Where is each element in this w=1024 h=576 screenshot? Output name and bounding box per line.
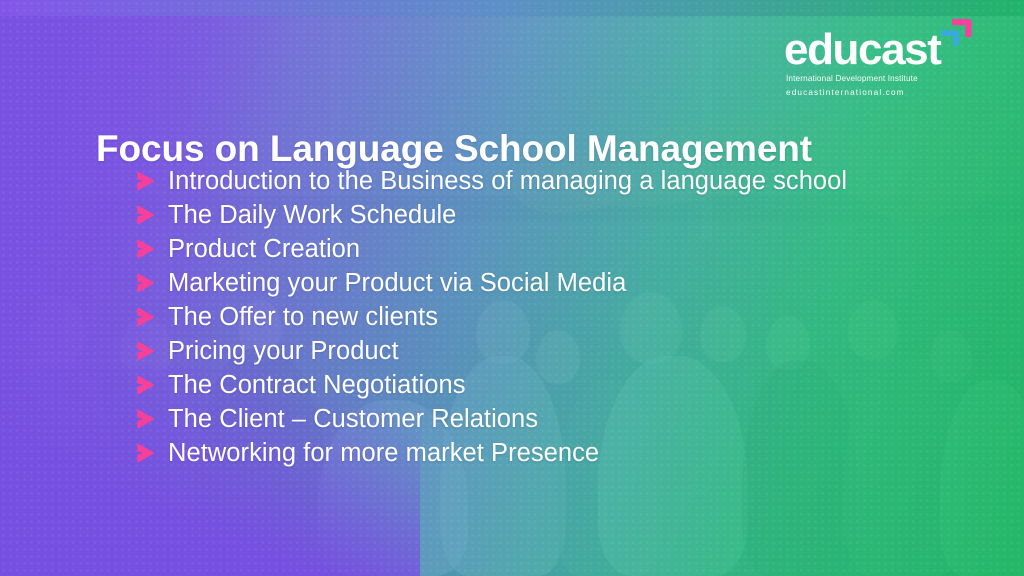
bullet-label: The Offer to new clients [168, 303, 438, 332]
slide-content: Focus on Language School Management Intr… [0, 0, 1024, 576]
bullet-item: Networking for more market Presence [134, 436, 847, 470]
bullet-label: The Daily Work Schedule [168, 201, 456, 230]
bullet-item: Introduction to the Business of managing… [134, 164, 847, 198]
chevron-right-arrow-icon [134, 373, 158, 397]
logo-tagline: International Development Institute [786, 74, 918, 83]
chevron-right-arrow-icon [134, 305, 158, 329]
bullet-label: The Contract Negotiations [168, 371, 466, 400]
bullet-label: Product Creation [168, 235, 360, 264]
bullet-item: The Client – Customer Relations [134, 402, 847, 436]
bullet-item: The Contract Negotiations [134, 368, 847, 402]
bullet-item: The Daily Work Schedule [134, 198, 847, 232]
bullet-list: Introduction to the Business of managing… [134, 164, 847, 470]
bullet-item: Product Creation [134, 232, 847, 266]
logo-url: educastinternational.com [786, 88, 905, 97]
chevron-right-arrow-icon [134, 441, 158, 465]
bullet-label: Pricing your Product [168, 337, 399, 366]
bullet-label: Marketing your Product via Social Media [168, 269, 626, 298]
chevron-right-arrow-icon [134, 271, 158, 295]
chevron-right-arrow-icon [134, 237, 158, 261]
logo-chevron-mark-icon [936, 12, 978, 50]
presentation-slide: Focus on Language School Management Intr… [0, 0, 1024, 576]
bullet-item: Pricing your Product [134, 334, 847, 368]
chevron-right-arrow-icon [134, 169, 158, 193]
bullet-label: Networking for more market Presence [168, 439, 599, 468]
bullet-label: Introduction to the Business of managing… [168, 167, 847, 196]
chevron-right-arrow-icon [134, 203, 158, 227]
chevron-right-arrow-icon [134, 339, 158, 363]
logo-wordmark: educast [784, 28, 941, 72]
bullet-item: Marketing your Product via Social Media [134, 266, 847, 300]
bullet-label: The Client – Customer Relations [168, 405, 538, 434]
bullet-item: The Offer to new clients [134, 300, 847, 334]
chevron-right-arrow-icon [134, 407, 158, 431]
